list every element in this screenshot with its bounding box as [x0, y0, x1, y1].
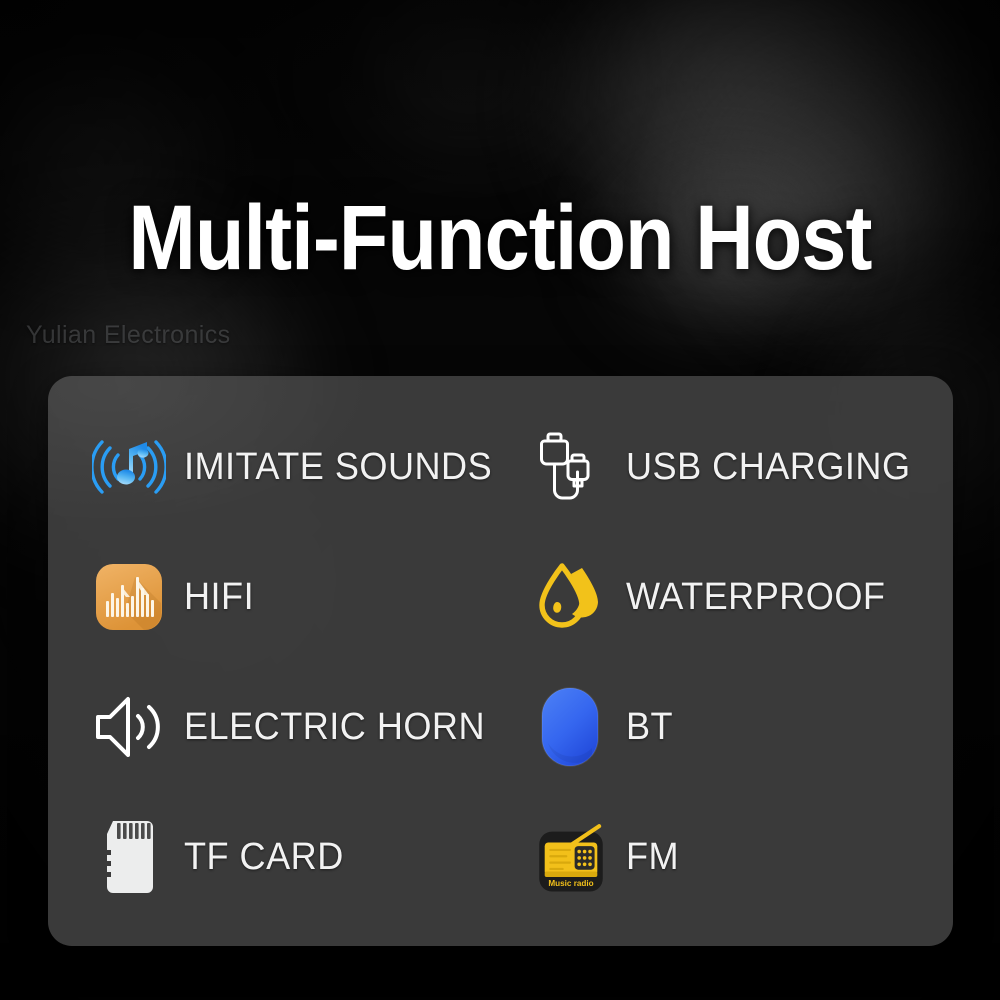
feature-item-usb-charging: USB CHARGING	[508, 402, 953, 532]
fm-brand-text: Music radio	[549, 879, 594, 888]
feature-label: BT	[626, 708, 673, 746]
feature-grid: IMITATE SOUNDS	[48, 376, 953, 946]
product-feature-graphic: Multi-Function Host Yulian Electronics	[0, 0, 1000, 1000]
feature-item-fm: Music radio FM	[508, 792, 953, 922]
feature-item-electric-horn: ELECTRIC HORN	[48, 662, 508, 792]
feature-label: IMITATE SOUNDS	[184, 448, 492, 486]
feature-label: USB CHARGING	[626, 448, 911, 486]
waterproof-droplet-icon	[532, 558, 610, 636]
feature-label: FM	[626, 838, 679, 876]
feature-label: ELECTRIC HORN	[184, 708, 485, 746]
feature-item-hifi: HIFI	[48, 532, 508, 662]
usb-charging-icon	[532, 428, 610, 506]
feature-item-waterproof: WATERPROOF	[508, 532, 953, 662]
hifi-equalizer-icon	[90, 558, 168, 636]
feature-panel: IMITATE SOUNDS	[48, 376, 953, 946]
imitate-sounds-icon	[90, 428, 168, 506]
tf-card-icon	[90, 818, 168, 896]
brand-watermark: Yulian Electronics	[26, 321, 231, 350]
feature-label: WATERPROOF	[626, 578, 885, 616]
electric-horn-speaker-icon	[90, 688, 168, 766]
feature-item-imitate-sounds: IMITATE SOUNDS	[48, 402, 508, 532]
bluetooth-icon	[532, 688, 610, 766]
feature-label: HIFI	[184, 578, 254, 616]
fm-radio-icon: Music radio	[532, 818, 610, 896]
feature-item-tf-card: TF CARD	[48, 792, 508, 922]
feature-label: TF CARD	[184, 838, 344, 876]
page-title: Multi-Function Host	[60, 192, 940, 284]
feature-item-bt: BT	[508, 662, 953, 792]
